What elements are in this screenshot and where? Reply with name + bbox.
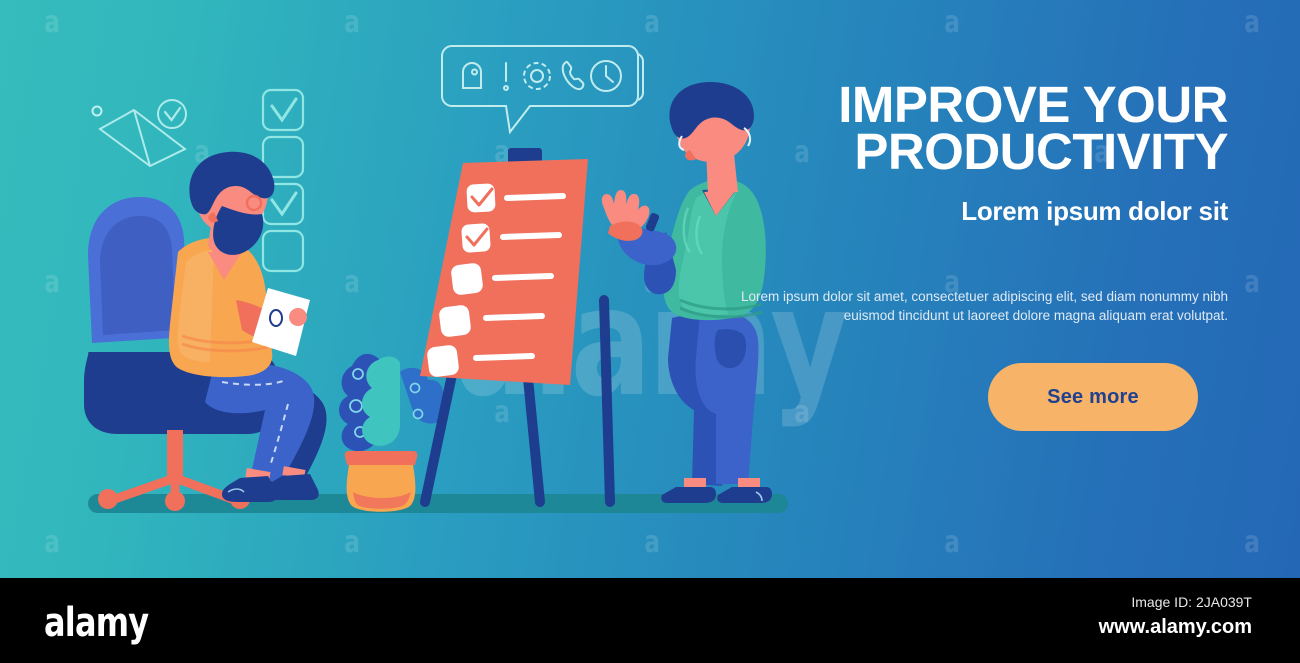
- checkbox-1: [263, 90, 303, 130]
- cta-container: See more: [700, 363, 1228, 431]
- phone-icon: [563, 62, 584, 89]
- text-column: IMPROVE YOUR PRODUCTIVITY Lorem ipsum do…: [700, 82, 1228, 431]
- image-id-label: Image ID: 2JA039T: [1131, 594, 1252, 610]
- website-label: www.alamy.com: [1099, 616, 1252, 639]
- camera-icon: [463, 63, 481, 88]
- clock-icon: [591, 61, 621, 91]
- alamy-footer-bar: alamy Image ID: 2JA039T www.alamy.com: [0, 578, 1300, 663]
- board-check-4: [438, 304, 471, 337]
- alamy-logo: alamy: [44, 600, 148, 646]
- body-paragraph: Lorem ipsum dolor sit amet, consectetuer…: [700, 287, 1228, 325]
- board-check-3: [450, 262, 483, 295]
- circle-outline-icon: [93, 107, 102, 116]
- gear-icon: [524, 63, 550, 89]
- screenshot-root: aaaaaaaaaaaaaaaaaaaaaaa alamy: [0, 0, 1300, 663]
- speech-bubble: [442, 46, 643, 132]
- checklist-board: [420, 159, 588, 385]
- exclamation-icon: [504, 63, 508, 90]
- headline-line-2: PRODUCTIVITY: [854, 123, 1228, 180]
- board-check-2: [461, 223, 491, 253]
- board-check-5: [426, 344, 459, 377]
- see-more-button[interactable]: See more: [988, 363, 1198, 431]
- page-title: IMPROVE YOUR PRODUCTIVITY: [700, 82, 1228, 176]
- circled-check-icon: [158, 100, 186, 128]
- checkbox-4: [263, 231, 303, 271]
- hero-banner: aaaaaaaaaaaaaaaaaaaaaaa alamy: [0, 0, 1300, 578]
- subtitle: Lorem ipsum dolor sit: [700, 196, 1228, 227]
